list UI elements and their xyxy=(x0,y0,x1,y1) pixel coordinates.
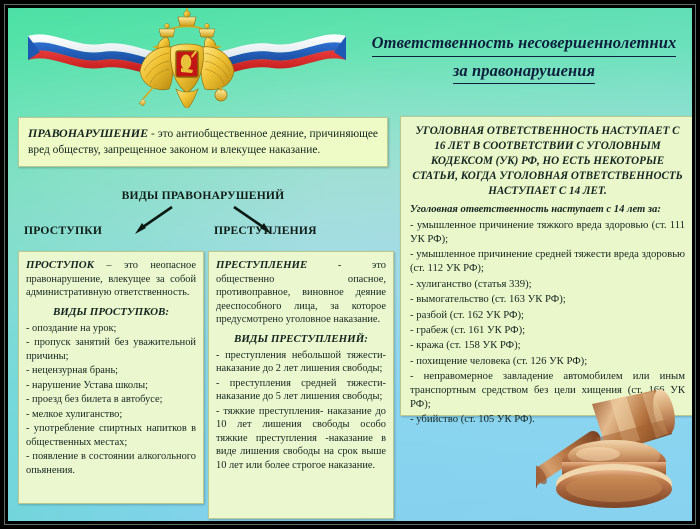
list-item: - вымогательство (ст. 163 УК РФ); xyxy=(410,293,685,307)
list-item: - похищение человека (ст. 126 УК РФ); xyxy=(410,355,685,369)
list-item: - преступления средней тяжести- наказани… xyxy=(216,377,386,404)
misdemeanor-subheading: ВИДЫ ПРОСТУПКОВ: xyxy=(26,305,196,319)
misdemeanor-list: - опоздание на урок; - пропуск занятий б… xyxy=(26,322,196,478)
crime-term: ПРЕСТУПЛЕНИЕ xyxy=(216,259,307,271)
list-item: - преступления небольшой тяжести- наказа… xyxy=(216,349,386,376)
list-item: - нецензурная брань; xyxy=(26,364,196,378)
list-item: - кража (ст. 158 УК РФ); xyxy=(410,339,685,353)
slide-canvas: Ответственность несовершеннолетних за пр… xyxy=(8,8,692,521)
list-item: - умышленное причинение средней тяжести … xyxy=(410,248,685,276)
misdemeanor-box: ПРОСТУПОК – это неопасное правонарушение… xyxy=(18,251,204,504)
criminal-liability-subheading: Уголовная ответственность наступает с 14… xyxy=(410,203,685,217)
misdemeanor-definition: ПРОСТУПОК – это неопасное правонарушение… xyxy=(26,258,196,300)
list-item: - появление в состоянии алкогольного опь… xyxy=(26,450,196,477)
crime-subheading: ВИДЫ ПРЕСТУПЛЕНИЙ: xyxy=(216,332,386,346)
judge-gavel-icon xyxy=(536,376,692,521)
page-title: Ответственность несовершеннолетних за пр… xyxy=(352,30,692,84)
russian-coat-of-arms-emblem-icon xyxy=(22,8,352,108)
list-item: - пропуск занятий без уважительной причи… xyxy=(26,336,196,363)
list-item: - нарушение Устава школы; xyxy=(26,379,196,393)
double-headed-eagle-icon xyxy=(139,8,234,108)
definition-term: ПРАВОНАРУШЕНИЕ xyxy=(28,126,148,140)
list-item: - тяжкие преступления- наказание до 10 л… xyxy=(216,405,386,473)
page-title-line2: за правонарушения xyxy=(453,58,595,85)
branch-label-crimes: ПРЕСТУПЛЕНИЯ xyxy=(214,224,317,237)
branch-label-misdemeanors: ПРОСТУПКИ xyxy=(24,224,102,237)
list-item: - умышленное причинение тяжкого вреда зд… xyxy=(410,219,685,247)
crime-list: - преступления небольшой тяжести- наказа… xyxy=(216,349,386,473)
definition-box-offence: ПРАВОНАРУШЕНИЕ - это антиобщественное де… xyxy=(18,117,388,167)
list-item: - употребление спиртных напитков в общес… xyxy=(26,422,196,449)
list-item: - разбой (ст. 162 УК РФ); xyxy=(410,309,685,323)
crime-definition: ПРЕСТУПЛЕНИЕ - это общественно опасное, … xyxy=(216,258,386,327)
misdemeanor-term: ПРОСТУПОК xyxy=(26,259,94,271)
branch-labels: ПРОСТУПКИ ПРЕСТУПЛЕНИЯ xyxy=(18,224,388,242)
gavel-sound-block xyxy=(556,440,672,508)
criminal-liability-box: УГОЛОВНАЯ ОТВЕТСТВЕННОСТЬ НАСТУПАЕТ С 16… xyxy=(400,116,692,416)
criminal-liability-heading: УГОЛОВНАЯ ОТВЕТСТВЕННОСТЬ НАСТУПАЕТ С 16… xyxy=(410,124,685,199)
crime-box: ПРЕСТУПЛЕНИЕ - это общественно опасное, … xyxy=(208,251,394,519)
list-item: - хулиганство (статья 339); xyxy=(410,278,685,292)
list-item: - мелкое хулиганство; xyxy=(26,408,196,422)
infographic-slide: Ответственность несовершеннолетних за пр… xyxy=(0,0,700,529)
list-item: - грабеж (ст. 161 УК РФ); xyxy=(410,324,685,338)
list-item: - проезд без билета в автобусе; xyxy=(26,393,196,407)
list-item: - опоздание на урок; xyxy=(26,322,196,336)
page-title-line1: Ответственность несовершеннолетних xyxy=(372,30,677,57)
